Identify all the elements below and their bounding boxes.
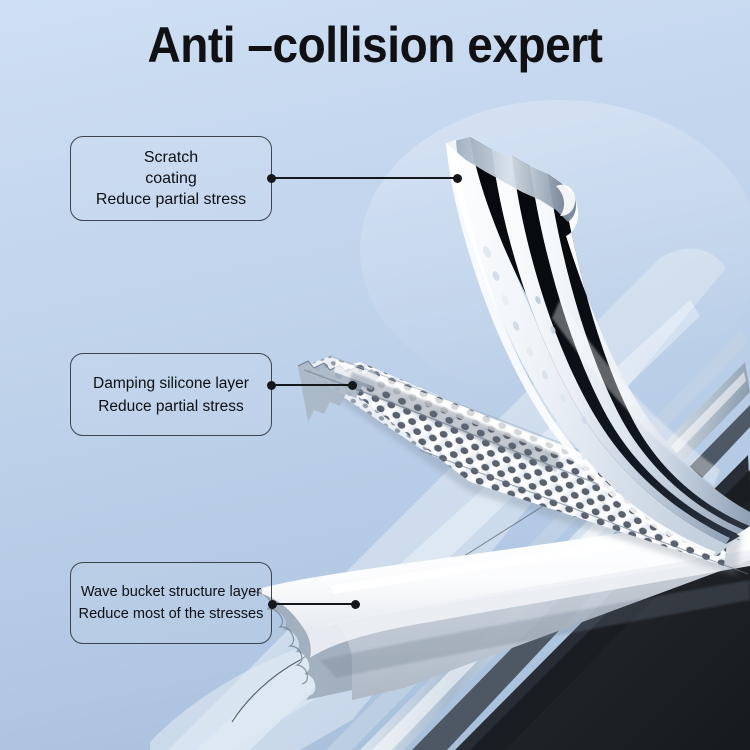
leader-line-damping-silicone-layer: [271, 384, 353, 386]
callout-damping-silicone-layer: Damping silicone layer Reduce partial st…: [70, 353, 272, 436]
callout-1-line-3: Reduce partial stress: [96, 189, 246, 210]
leader-dot-start: [268, 600, 277, 609]
callout-1-line-1: Scratch: [144, 147, 198, 168]
callout-1-line-2: coating: [145, 168, 197, 189]
callout-2-line-2: Reduce partial stress: [98, 395, 244, 418]
leader-line-wave-bucket-structure-layer: [272, 603, 356, 605]
page-title: Anti –collision expert: [30, 17, 720, 73]
leader-dot-end: [453, 174, 462, 183]
leader-dot-end: [348, 381, 357, 390]
product-feature-image: Anti –collision expert Scratch coating R…: [0, 0, 750, 750]
leader-dot-start: [267, 174, 276, 183]
callout-3-line-1: Wave bucket structure layer: [81, 581, 261, 603]
leader-line-scratch-coating: [271, 177, 458, 179]
callout-wave-bucket-structure-layer: Wave bucket structure layer Reduce most …: [70, 562, 272, 644]
callout-2-line-1: Damping silicone layer: [93, 372, 249, 395]
callout-3-line-2: Reduce most of the stresses: [79, 603, 264, 625]
leader-dot-start: [267, 381, 276, 390]
leader-dot-end: [351, 600, 360, 609]
callout-scratch-coating: Scratch coating Reduce partial stress: [70, 136, 272, 221]
